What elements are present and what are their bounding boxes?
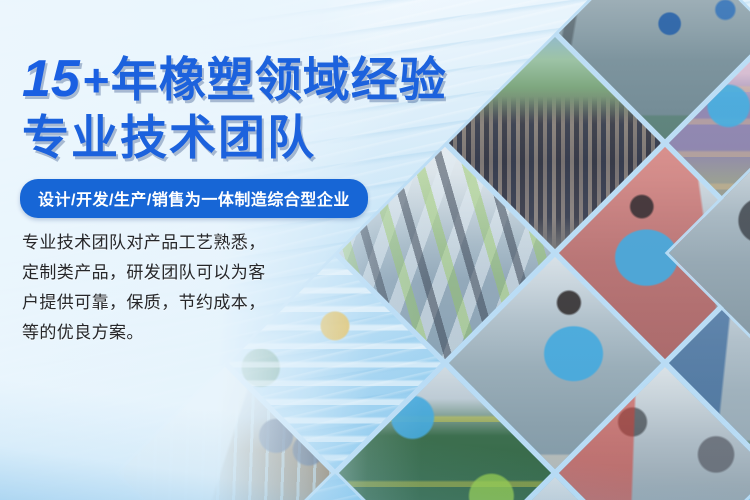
years-number: 15	[22, 50, 82, 108]
headline-line-1: 15+年橡塑领域经验	[22, 52, 447, 108]
promo-banner: 15+年橡塑领域经验 专业技术团队 设计/开发/生产/销售为一体制造综合型企业 …	[0, 0, 750, 500]
headline-line-2: 专业技术团队	[22, 110, 316, 165]
headline-line-1-text: 年橡塑领域经验	[111, 53, 447, 106]
text-content-block: 15+年橡塑领域经验 专业技术团队 设计/开发/生产/销售为一体制造综合型企业 …	[0, 0, 470, 500]
tagline-pill: 设计/开发/生产/销售为一体制造综合型企业	[20, 179, 368, 218]
body-paragraph: 专业技术团队对产品工艺熟悉，定制类产品，研发团队可以为客户提供可靠，保质，节约成…	[22, 228, 272, 348]
plus-sign: +	[82, 54, 111, 106]
